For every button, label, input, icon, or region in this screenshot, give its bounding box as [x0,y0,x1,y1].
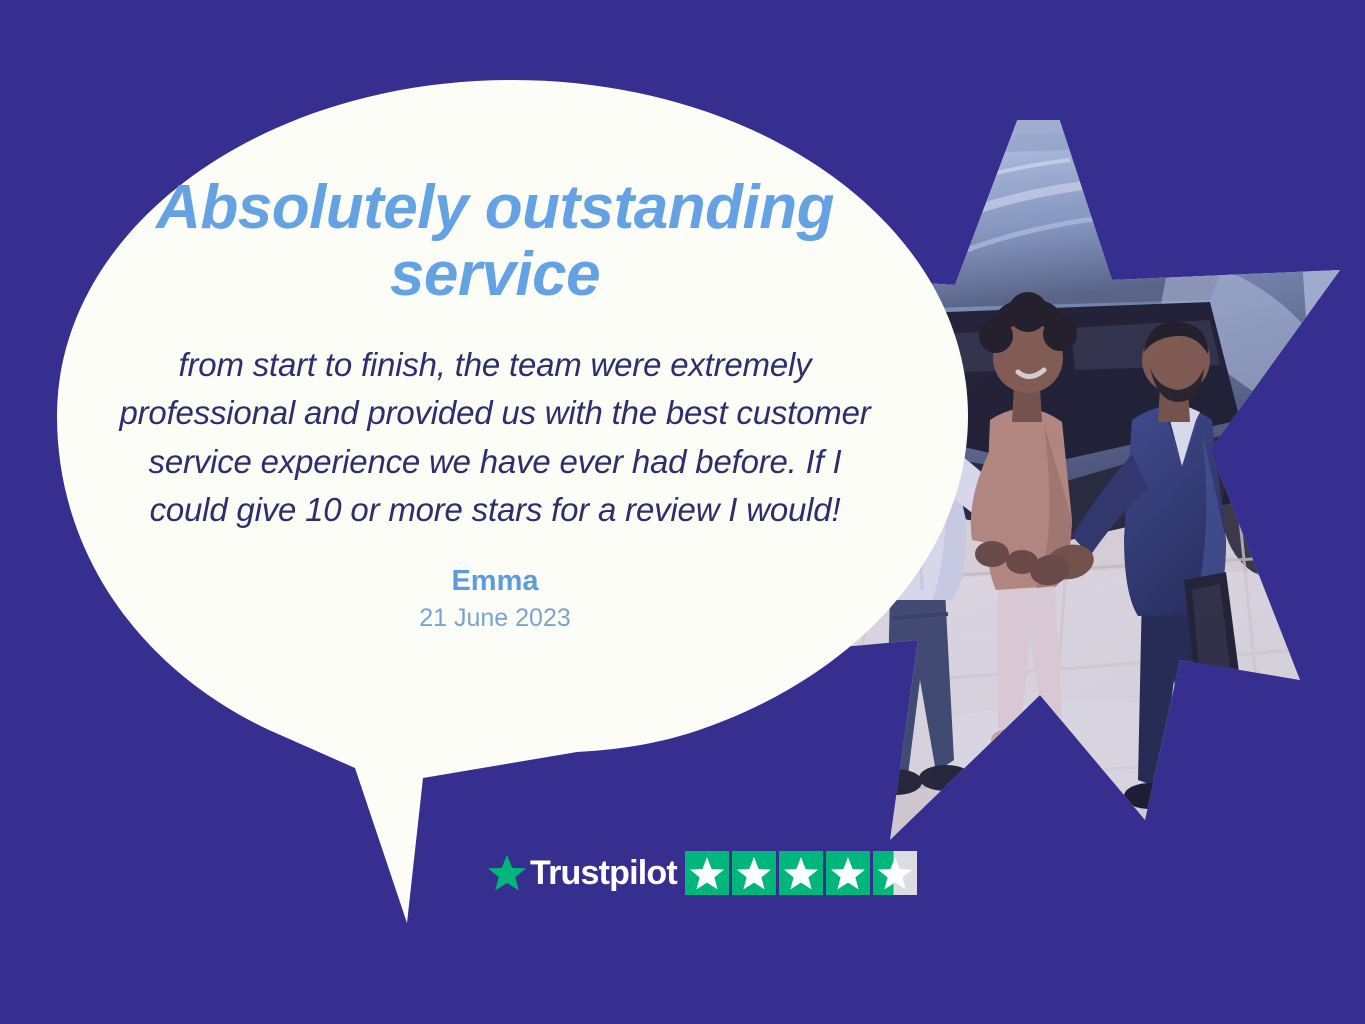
review-author: Emma [95,565,895,598]
rating-star-5-half[interactable] [873,851,917,895]
rating-star-1[interactable] [685,851,729,895]
rating-star-2[interactable] [732,851,776,895]
review-headline: Absolutely outstanding service [95,175,895,309]
trustpilot-logo[interactable]: Trustpilot [487,853,677,893]
trustpilot-rating[interactable]: Trustpilot [487,849,917,897]
trustpilot-star-rating[interactable] [685,851,917,895]
review-quote: from start to finish, the team were extr… [95,341,895,535]
trustpilot-star-icon [487,853,527,893]
trustpilot-wordmark: Trustpilot [530,856,677,890]
rating-star-4[interactable] [826,851,870,895]
review-date: 21 June 2023 [95,602,895,635]
rating-star-3[interactable] [779,851,823,895]
review-testimonial-card: Absolutely outstanding service from star… [0,0,1365,1024]
review-content: Absolutely outstanding service from star… [95,175,895,635]
